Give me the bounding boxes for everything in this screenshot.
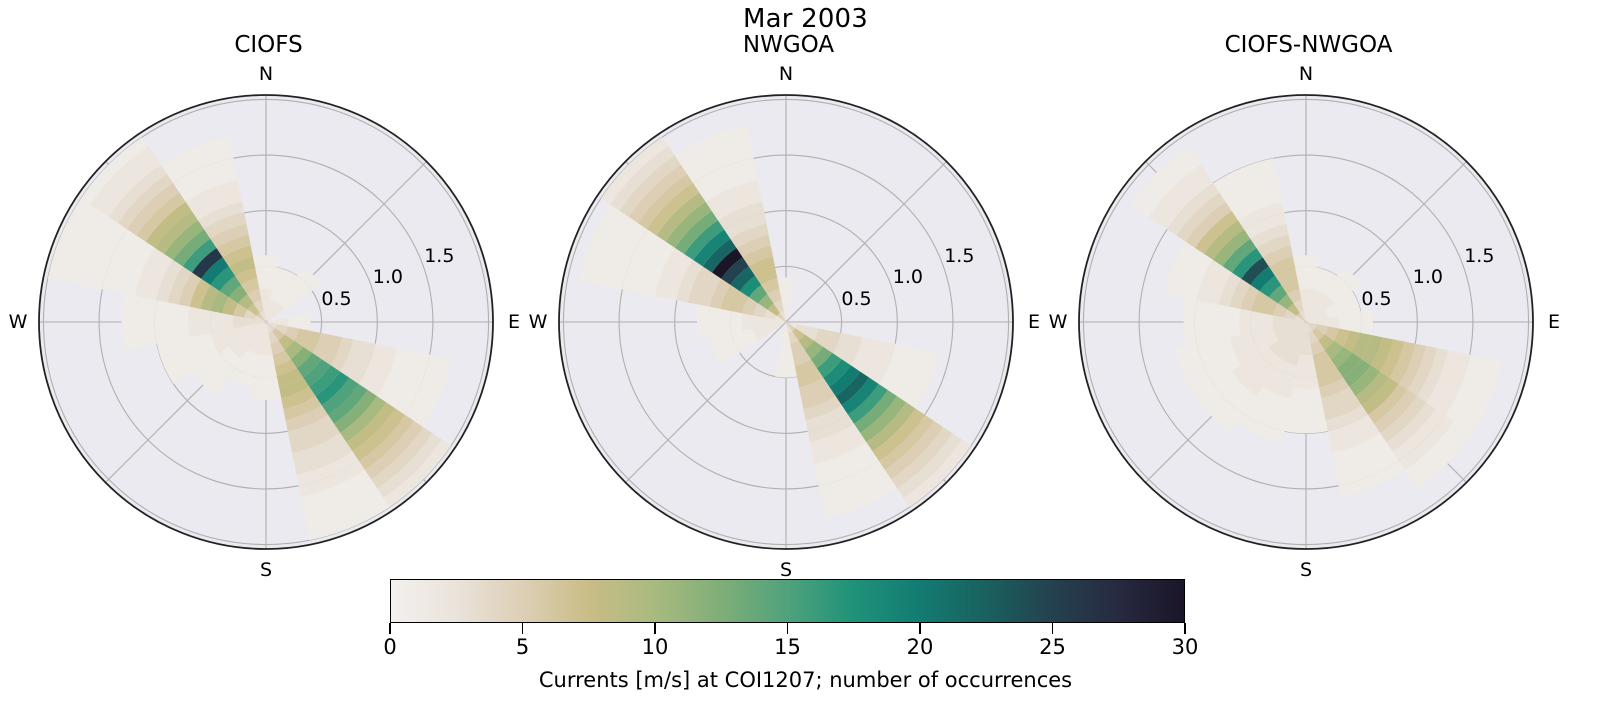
polar-axes [1040,0,1577,600]
colorbar-tick-label: 10 [642,635,669,659]
polar-radial-tick-label: 0.5 [1361,288,1391,310]
rose-bar-segment [255,266,277,278]
colorbar-tick-label: 0 [383,635,396,659]
rose-bar-segment [777,355,794,367]
colorbar-tick-label: 5 [516,635,529,659]
polar-subplot-nwgoa: NWGOANESW0.51.01.5 [520,0,1057,600]
rose-bar-segment [1293,377,1319,389]
polar-direction-label-s: S [780,559,792,581]
polar-radial-tick-label: 1.0 [893,266,923,288]
colorbar-tick-label: 25 [1039,635,1066,659]
colorbar-tick [787,623,788,634]
colorbar-tick [654,623,655,634]
colorbar-tick-label: 20 [907,635,934,659]
rose-bar-segment [253,377,279,389]
polar-direction-label-n: N [259,63,273,85]
polar-radial-tick-label: 0.5 [841,288,871,310]
polar-axes [520,0,1057,600]
rose-bar-segment [1297,355,1314,367]
rose-bar-segment [1297,277,1314,289]
colorbar-tick-axis: 051015202530 [390,623,1185,657]
polar-direction-label-w: W [9,311,28,333]
polar-direction-label-s: S [1300,559,1312,581]
rose-bar-segment [257,277,274,289]
rose-bar-segment [1328,315,1340,328]
rose-bar-segment [1299,289,1312,301]
polar-direction-label-n: N [1299,63,1313,85]
rose-bar-segment [210,311,222,333]
rose-bar-segment [1295,266,1317,278]
rose-bar-segment [1206,302,1219,341]
rose-bar-segment [199,309,211,335]
rose-bar-segment [719,309,731,335]
rose-bar-segment [741,313,753,330]
rose-bar-segment [777,277,794,289]
rose-bar-segment [1295,366,1317,378]
figure-canvas: Mar 2003 CIOFSNESW0.51.01.5 NWGOANESW0.5… [0,0,1611,724]
rose-bar-segment [221,313,233,330]
polar-direction-label-e: E [508,311,520,333]
rose-bar-segment [257,355,274,367]
polar-radial-tick-label: 1.0 [1413,266,1443,288]
polar-axes [0,0,537,600]
rose-bar-segment [1250,311,1262,333]
rose-bar-segment [1289,398,1324,411]
colorbar-label: Currents [m/s] at COI1207; number of occ… [0,668,1611,692]
colorbar-tick [389,623,390,634]
rose-bar-segment [177,305,190,340]
rose-bar-segment [1195,300,1208,343]
rose-bar-segment [1286,409,1325,422]
rose-bar-segment [1291,387,1321,399]
rose-bar-segment [1217,305,1230,340]
rose-bar-segment [259,344,272,356]
rose-bar-segment [253,255,279,267]
polar-radial-tick-label: 1.5 [944,245,974,267]
rose-bar-segment [188,307,200,337]
rose-bar-segment [779,289,792,301]
rose-bar-segment [1273,315,1285,328]
rose-bar-segment [697,305,710,340]
polar-radial-tick-label: 1.5 [1464,245,1494,267]
rose-bar-segment [1299,344,1312,356]
polar-direction-label-w: W [529,311,548,333]
colorbar-gradient [391,580,1184,622]
rose-bar-segment [779,344,792,356]
rose-bar-segment [166,302,179,341]
polar-radial-tick-label: 1.0 [373,266,403,288]
polar-subplot-ciofs: CIOFSNESW0.51.01.5 [0,0,537,600]
rose-bar-segment [299,313,311,330]
rose-bar-segment [775,366,797,378]
polar-radial-tick-label: 0.5 [321,288,351,310]
colorbar [390,579,1185,623]
colorbar-tick [1052,623,1053,634]
colorbar-tick [919,623,920,634]
rose-bar-segment [259,289,272,301]
polar-direction-label-e: E [1548,311,1560,333]
polar-direction-label-w: W [1049,311,1068,333]
rose-bar-segment [233,315,245,328]
rose-bar-segment [1261,313,1273,330]
rose-bar-segment [1284,420,1327,433]
rose-bar-segment [255,366,277,378]
rose-bar-segment [1350,311,1362,333]
rose-bar-segment [251,387,281,399]
rose-bar-segment [1361,309,1373,335]
colorbar-tick-label: 30 [1172,635,1199,659]
rose-bar-segment [753,315,765,328]
rose-bar-segment [1339,313,1351,330]
rose-bar-segment [1228,307,1240,337]
rose-bar-segment [708,307,720,337]
colorbar-tick [522,623,523,634]
colorbar-tick [1184,623,1185,634]
polar-radial-tick-label: 1.5 [424,245,454,267]
polar-subplot-ciofs-nwgoa: CIOFS-NWGOANESW0.51.01.5 [1040,0,1577,600]
rose-bar-segment [1293,255,1319,267]
polar-direction-label-e: E [1028,311,1040,333]
colorbar-tick-label: 15 [774,635,801,659]
polar-direction-label-n: N [779,63,793,85]
rose-bar-segment [1239,309,1251,335]
rose-bar-segment [288,315,300,328]
polar-direction-label-s: S [260,559,272,581]
rose-bar-segment [155,300,168,343]
rose-bar-segment [730,311,742,333]
